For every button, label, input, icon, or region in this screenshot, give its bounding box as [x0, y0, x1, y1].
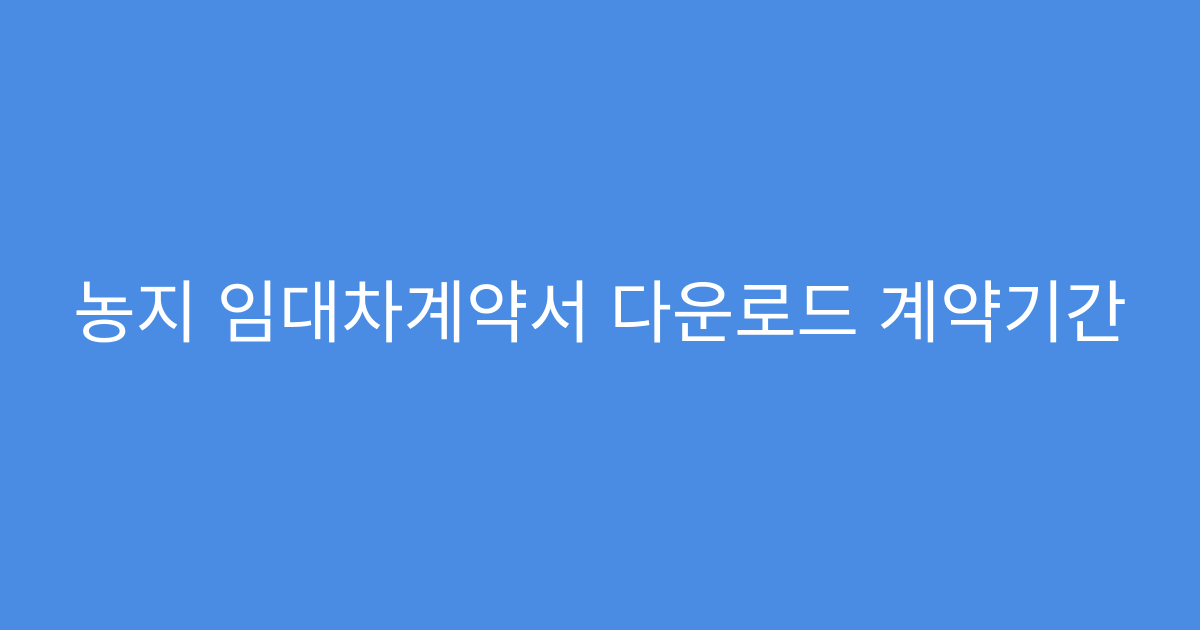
page-title: 농지 임대차계약서 다운로드 계약기간	[73, 269, 1127, 360]
share-card: 농지 임대차계약서 다운로드 계약기간	[0, 0, 1200, 630]
title-block: 농지 임대차계약서 다운로드 계약기간	[0, 269, 1200, 360]
